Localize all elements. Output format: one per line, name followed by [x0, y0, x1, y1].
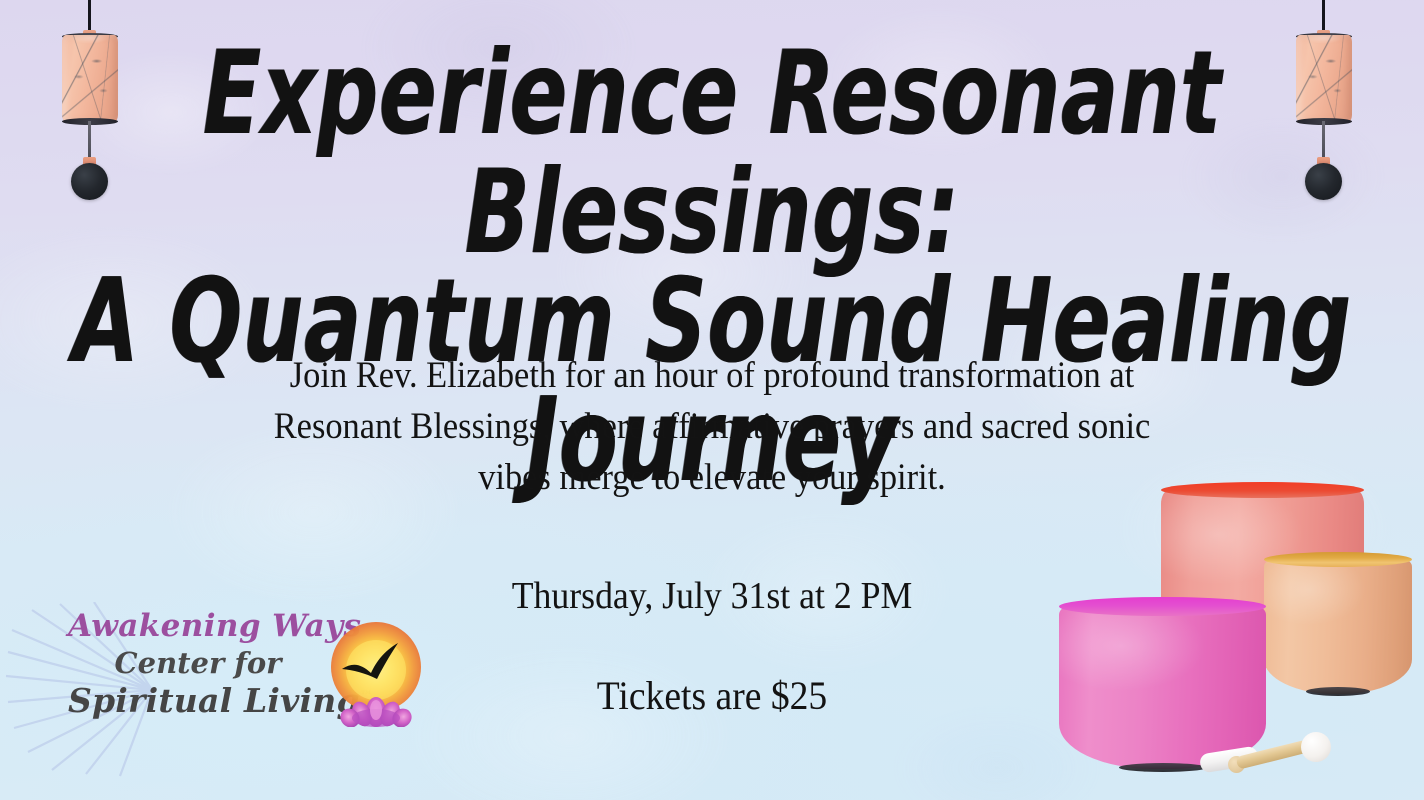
- logo-line-spiritual-living: Spiritual Living™: [68, 681, 336, 720]
- logo-wordmark: Awakening Ways Center for Spiritual Livi…: [68, 608, 336, 720]
- logo-spiritual-living-text: Spiritual Living: [68, 681, 360, 720]
- flyer-canvas: Experience Resonant Blessings: A Quantum…: [0, 0, 1424, 800]
- title-line-1: Experience Resonant Blessings:: [21, 34, 1402, 271]
- organization-logo: Awakening Ways Center for Spiritual Livi…: [64, 606, 444, 746]
- sun-bird-lotus-emblem-icon: [320, 615, 432, 727]
- logo-line-center-for: Center for: [68, 646, 336, 680]
- logo-line-awakening-ways: Awakening Ways: [68, 608, 336, 644]
- event-description: Join Rev. Elizabeth for an hour of profo…: [242, 350, 1181, 503]
